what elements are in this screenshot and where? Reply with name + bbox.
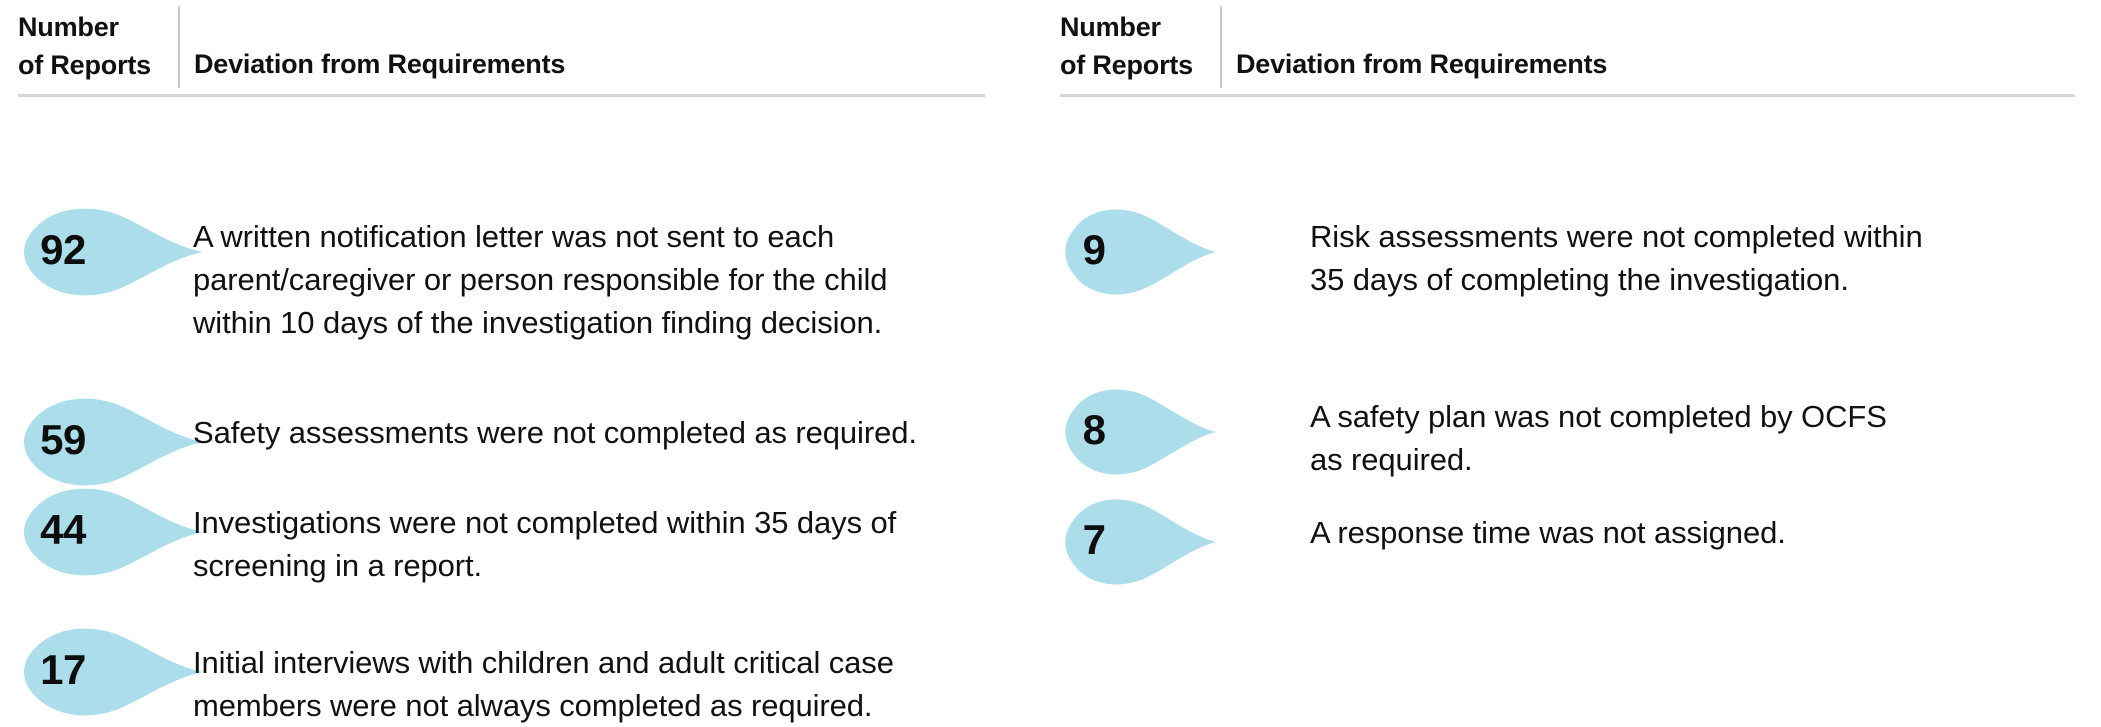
report-description: A response time was not assigned. [1310, 511, 2100, 554]
teardrop-count-marker: 59 [18, 397, 208, 487]
teardrop-count-marker: 7 [1060, 497, 1220, 587]
report-count-value: 59 [26, 419, 100, 461]
report-description: Safety assessments were not completed as… [193, 411, 1003, 454]
report-description: Initial interviews with children and adu… [193, 641, 1003, 727]
report-count-value: 7 [1066, 519, 1122, 561]
header-number-of-reports: Number of Reports [1060, 8, 1210, 85]
report-count-value: 17 [26, 649, 100, 691]
header-deviation-from-requirements: Deviation from Requirements [194, 45, 565, 83]
report-description: Investigations were not completed within… [193, 501, 1003, 587]
report-column-left: Number of Reports Deviation from Require… [18, 0, 1008, 97]
header-horizontal-rule [18, 94, 985, 97]
report-count-value: 44 [26, 509, 100, 551]
report-count-value: 92 [26, 229, 100, 271]
header-vertical-divider [1220, 6, 1222, 88]
header-horizontal-rule [1060, 94, 2075, 97]
column-header-left: Number of Reports Deviation from Require… [18, 0, 1008, 97]
teardrop-count-marker: 9 [1060, 207, 1220, 297]
report-description: A written notification letter was not se… [193, 215, 1003, 344]
teardrop-count-marker: 44 [18, 487, 208, 577]
header-deviation-from-requirements: Deviation from Requirements [1236, 45, 1607, 83]
report-count-value: 9 [1066, 229, 1122, 271]
header-number-of-reports: Number of Reports [18, 8, 168, 85]
deviation-reports-figure: Number of Reports Deviation from Require… [0, 0, 2101, 666]
header-vertical-divider [178, 6, 180, 88]
teardrop-count-marker: 92 [18, 207, 208, 297]
column-header-right: Number of Reports Deviation from Require… [1060, 0, 2085, 97]
report-description: Risk assessments were not completed with… [1310, 215, 2100, 301]
report-count-value: 8 [1066, 409, 1122, 451]
report-column-right: Number of Reports Deviation from Require… [1060, 0, 2085, 97]
report-description: A safety plan was not completed by OCFS … [1310, 395, 2100, 481]
teardrop-count-marker: 8 [1060, 387, 1220, 477]
teardrop-count-marker: 17 [18, 627, 208, 717]
